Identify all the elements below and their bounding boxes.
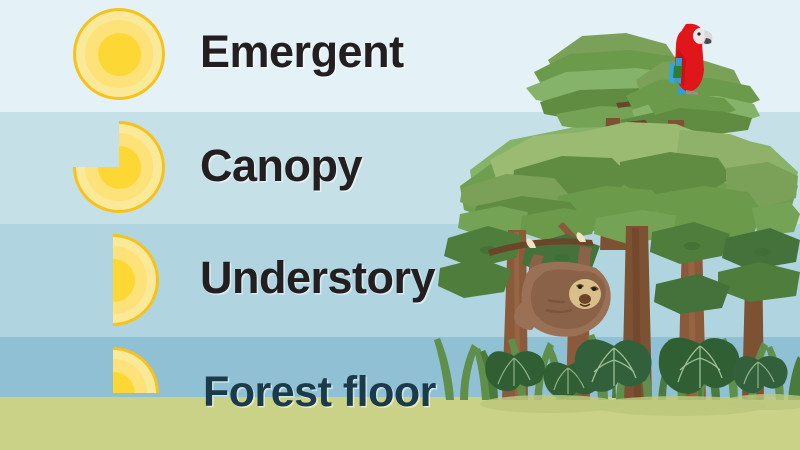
rainforest-illustration [430, 0, 800, 450]
sun-quarter-icon [113, 347, 165, 393]
layer-label-forest-floor: Forest floor [203, 368, 436, 417]
sun-three-quarter-icon [67, 121, 165, 213]
layer-label-understory: Understory [200, 252, 435, 304]
rainforest-layers-diagram: Emergent Canopy Understory Forest floor [0, 0, 800, 450]
sun-full-circle-icon [73, 8, 165, 100]
sun-half-icon [113, 234, 165, 326]
layer-label-canopy: Canopy [200, 140, 362, 192]
layer-label-emergent: Emergent [200, 26, 404, 78]
